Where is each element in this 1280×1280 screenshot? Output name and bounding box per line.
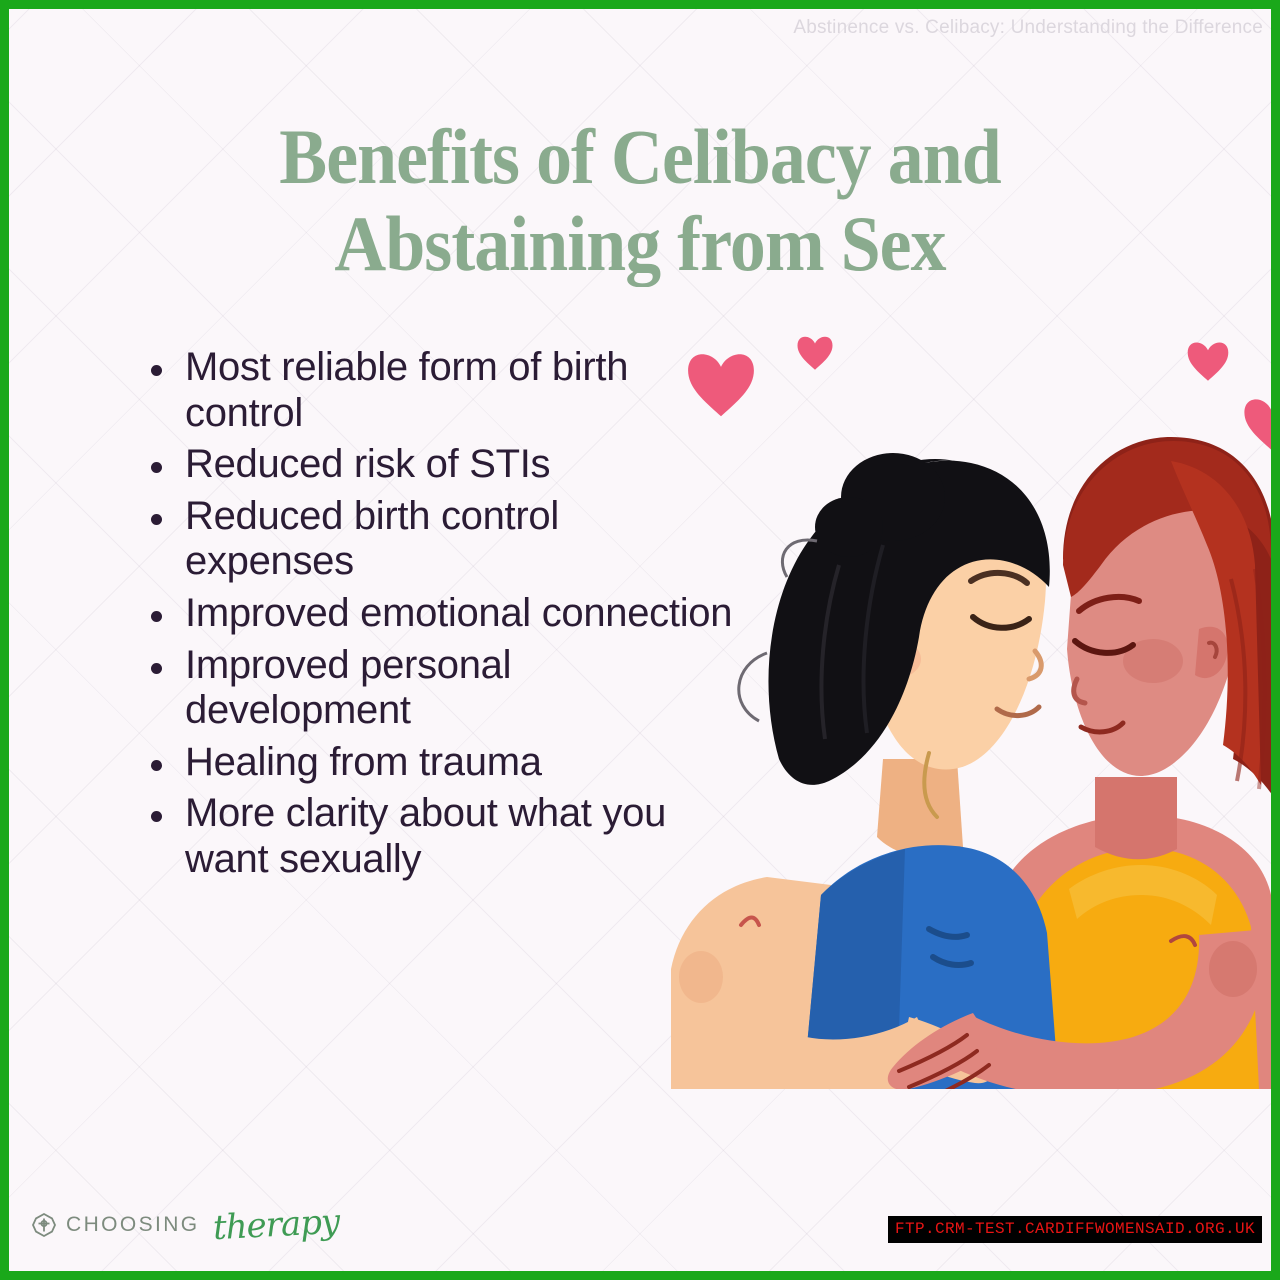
list-item: Reduced risk of STIs [137, 442, 737, 488]
list-item: More clarity about what you want sexuall… [137, 791, 737, 882]
page-title-line-2: Abstaining from Sex [59, 200, 1220, 287]
list-item: Improved personal development [137, 643, 737, 734]
green-border-frame: Abstinence vs. Celibacy: Understanding t… [0, 0, 1280, 1280]
header-title: Abstinence vs. Celibacy: Understanding t… [793, 17, 1263, 39]
url-watermark: FTP.CRM-TEST.CARDIFFWOMENSAID.ORG.UK [888, 1216, 1262, 1243]
benefits-list: Most reliable form of birth control Redu… [137, 345, 737, 889]
page-title: Benefits of Celibacy and Abstaining from… [59, 113, 1220, 288]
list-item: Reduced birth control expenses [137, 494, 737, 585]
page-title-line-1: Benefits of Celibacy and [59, 113, 1220, 200]
logo-wordmark: CHOOSING [66, 1213, 200, 1237]
heart-icon-small-top [798, 337, 833, 370]
choosing-therapy-logo: CHOOSING therapy [31, 1205, 339, 1245]
logo-emblem-icon [31, 1212, 57, 1238]
heart-icon-edge [1244, 399, 1271, 449]
heart-icon-right [1188, 343, 1229, 381]
list-item: Most reliable form of birth control [137, 345, 737, 436]
logo-script-word: therapy [212, 1202, 340, 1249]
list-item: Improved emotional connection [137, 591, 737, 637]
heart-icon-large [688, 354, 754, 416]
infographic-canvas: Abstinence vs. Celibacy: Understanding t… [9, 9, 1271, 1271]
couple-illustration [671, 329, 1271, 1089]
list-item: Healing from trauma [137, 740, 737, 786]
header-bar: Abstinence vs. Celibacy: Understanding t… [9, 9, 1271, 47]
